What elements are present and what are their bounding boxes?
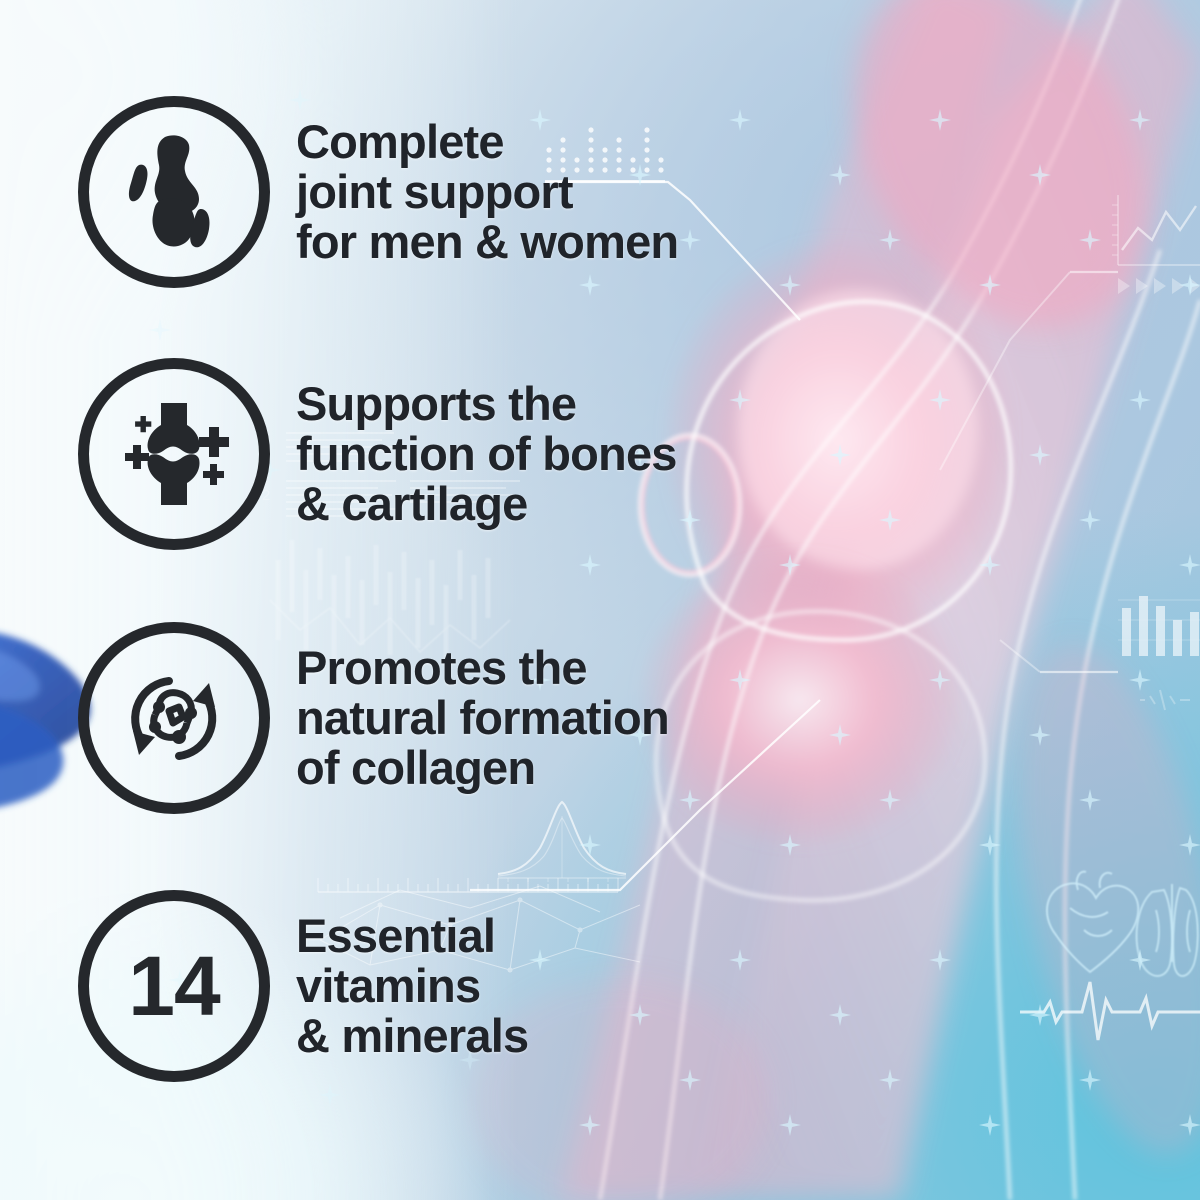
feature-text-4: Essential vitamins & minerals (296, 911, 528, 1062)
joint-with-plus-signs-icon (78, 358, 270, 550)
number-badge-14: 14 (78, 890, 270, 1082)
feature-text-1: Complete joint support for men & women (296, 117, 678, 268)
knee-joint-bone-icon (78, 96, 270, 288)
feature-text-2: Supports the function of bones & cartila… (296, 379, 677, 530)
molecule-renewal-arrows-icon (78, 622, 270, 814)
feature-item-2[interactable]: Supports the function of bones & cartila… (78, 358, 677, 550)
infographic-panel: 1 2 (0, 0, 1200, 1200)
feature-item-3[interactable]: Promotes the natural formation of collag… (78, 622, 669, 814)
feature-item-4[interactable]: 14 Essential vitamins & minerals (78, 890, 528, 1082)
feature-text-3: Promotes the natural formation of collag… (296, 643, 669, 794)
feature-item-1[interactable]: Complete joint support for men & women (78, 96, 678, 288)
feature-list: Complete joint support for men & women (0, 0, 800, 1200)
badge-number-label: 14 (128, 944, 219, 1028)
